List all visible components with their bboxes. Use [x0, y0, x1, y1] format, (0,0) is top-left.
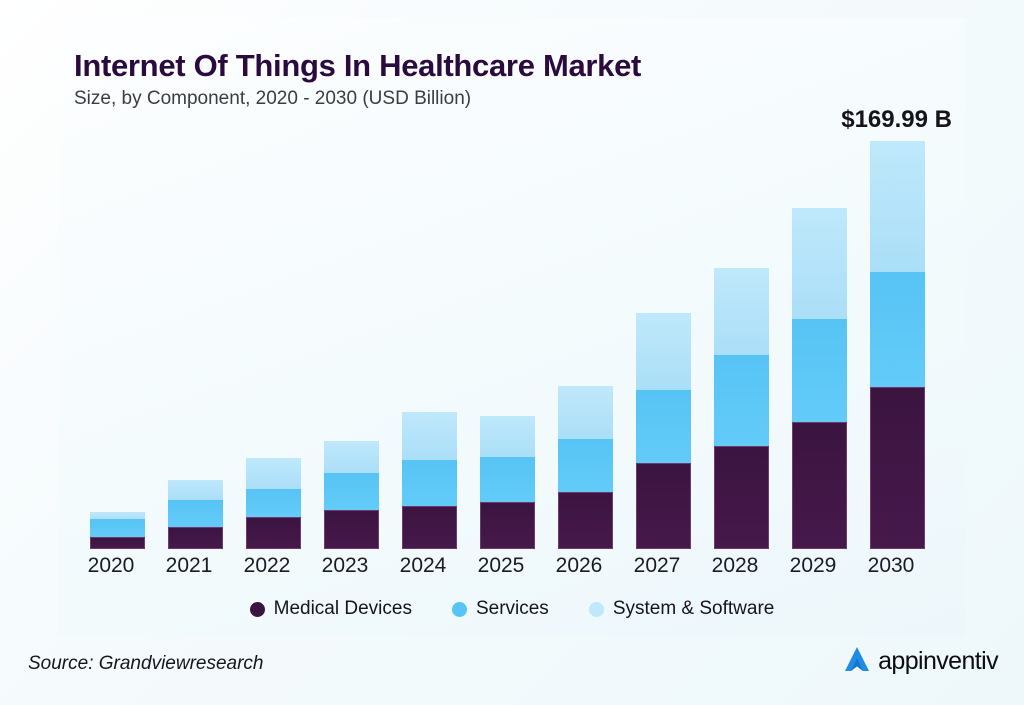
brand-logo: appinventiv — [840, 642, 998, 681]
bar-segment-medical-devices — [714, 446, 769, 549]
bar-segment-services — [90, 519, 145, 537]
bar-segment-services — [402, 460, 457, 506]
bar-segment-system-software — [480, 416, 535, 457]
legend-item-system-software[interactable]: System & Software — [589, 598, 775, 620]
bar-2024[interactable] — [402, 412, 457, 549]
bar-segment-services — [324, 473, 379, 510]
legend-item-medical-devices[interactable]: Medical Devices — [250, 598, 412, 620]
bar-segment-medical-devices — [246, 517, 301, 549]
bar-segment-medical-devices — [168, 527, 223, 549]
x-axis-label-2022: 2022 — [232, 554, 302, 578]
bar-segment-services — [870, 272, 925, 387]
bar-segment-services — [246, 489, 301, 517]
bar-2029[interactable] — [792, 208, 847, 549]
bar-2027[interactable] — [636, 313, 691, 549]
bar-2028[interactable] — [714, 268, 769, 549]
chart-canvas: Internet Of Things In Healthcare Market … — [0, 0, 1024, 705]
bar-segment-services — [168, 500, 223, 527]
bar-2020[interactable] — [90, 512, 145, 549]
x-axis-label-2028: 2028 — [700, 554, 770, 578]
bar-segment-system-software — [636, 313, 691, 390]
bar-segment-system-software — [324, 441, 379, 473]
bar-segment-medical-devices — [792, 422, 847, 549]
bar-segment-services — [636, 390, 691, 463]
bar-segment-system-software — [246, 458, 301, 489]
bar-segment-system-software — [792, 208, 847, 319]
bar-segment-system-software — [870, 141, 925, 272]
bar-segment-system-software — [402, 412, 457, 460]
bar-segment-services — [792, 319, 847, 422]
chart-legend: Medical DevicesServicesSystem & Software — [0, 598, 1024, 620]
x-axis-label-2020: 2020 — [76, 554, 146, 578]
bar-segment-services — [714, 355, 769, 446]
legend-swatch-icon — [589, 602, 604, 617]
x-axis-label-2027: 2027 — [622, 554, 692, 578]
x-axis-label-2030: 2030 — [856, 554, 926, 578]
legend-item-services[interactable]: Services — [452, 598, 549, 620]
bar-2022[interactable] — [246, 458, 301, 549]
brand-name: appinventiv — [878, 647, 998, 676]
legend-label: Medical Devices — [274, 598, 412, 620]
bar-segment-system-software — [714, 268, 769, 355]
source-note: Source: Grandviewresearch — [28, 653, 264, 675]
bar-2023[interactable] — [324, 441, 379, 549]
legend-label: Services — [476, 598, 549, 620]
bar-segment-medical-devices — [402, 506, 457, 549]
x-axis-label-2025: 2025 — [466, 554, 536, 578]
x-axis-label-2029: 2029 — [778, 554, 848, 578]
bar-segment-medical-devices — [558, 492, 613, 549]
x-axis-label-2026: 2026 — [544, 554, 614, 578]
legend-label: System & Software — [613, 598, 775, 620]
bar-segment-services — [480, 457, 535, 502]
bar-segment-system-software — [168, 480, 223, 500]
bar-segment-medical-devices — [636, 463, 691, 549]
bar-segment-medical-devices — [324, 510, 379, 549]
bar-2026[interactable] — [558, 386, 613, 549]
bar-segment-system-software — [558, 386, 613, 439]
legend-swatch-icon — [250, 602, 265, 617]
bar-segment-medical-devices — [90, 537, 145, 549]
x-axis-label-2023: 2023 — [310, 554, 380, 578]
bar-2025[interactable] — [480, 416, 535, 549]
bar-segment-services — [558, 439, 613, 492]
a-arrow-logo-icon — [840, 642, 874, 681]
bar-2030[interactable] — [870, 141, 925, 549]
legend-swatch-icon — [452, 602, 467, 617]
x-axis-label-2024: 2024 — [388, 554, 458, 578]
bar-2021[interactable] — [168, 480, 223, 549]
x-axis-label-2021: 2021 — [154, 554, 224, 578]
bar-segment-medical-devices — [870, 387, 925, 549]
bar-segment-medical-devices — [480, 502, 535, 549]
bar-segment-system-software — [90, 512, 145, 519]
